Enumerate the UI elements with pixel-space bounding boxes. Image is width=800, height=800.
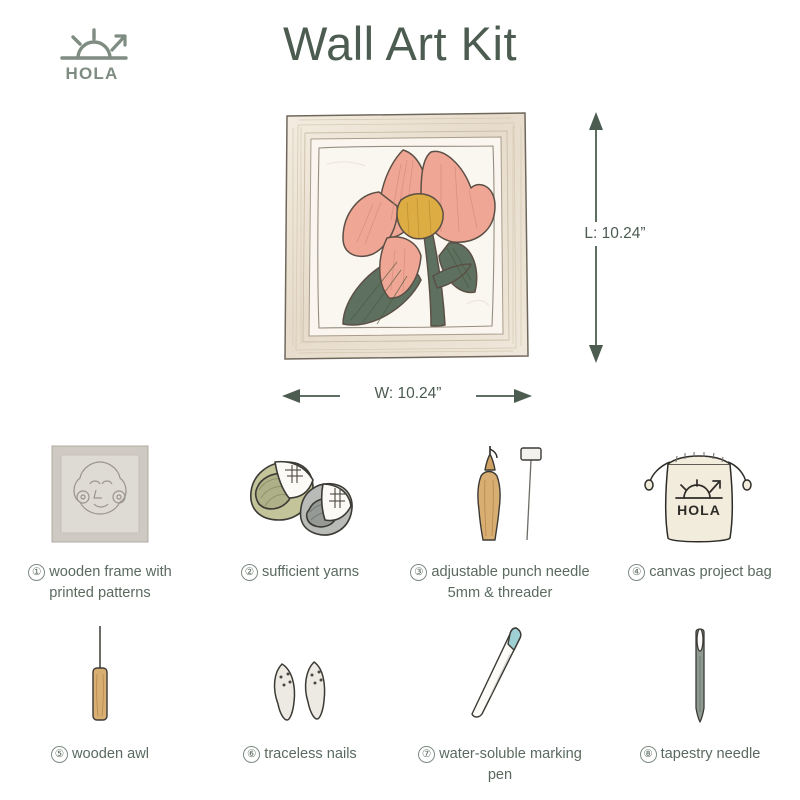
kit-item-label: traceless nails <box>264 746 356 762</box>
kit-item-label: canvas project bag <box>649 564 772 580</box>
length-dimension-label: L: 10.24” <box>560 222 670 246</box>
kit-item-number: ④ <box>628 564 645 581</box>
kit-item-label: sufficient yarns <box>262 564 359 580</box>
kit-item-caption: ⑧tapestry needle <box>608 744 792 765</box>
wooden-awl-icon <box>70 618 130 730</box>
kit-item-caption: ①wooden frame with printed patterns <box>8 562 192 604</box>
kit-item-canvas-bag[interactable]: HOLA ④canvas project bag <box>600 436 800 618</box>
wooden-frame-icon <box>46 436 154 548</box>
tapestry-needle-icon <box>670 618 730 730</box>
kit-item-number: ⑥ <box>243 746 260 763</box>
kit-item-caption: ⑤wooden awl <box>8 744 192 765</box>
page-header: HOLA Wall Art Kit <box>0 0 800 100</box>
kit-item-caption: ⑥traceless nails <box>208 744 392 765</box>
canvas-bag-icon: HOLA <box>640 436 760 548</box>
kit-item-label: wooden awl <box>72 746 149 762</box>
kit-item-wooden-awl[interactable]: ⑤wooden awl <box>0 618 200 800</box>
kit-item-number: ⑧ <box>640 746 657 763</box>
page-title: Wall Art Kit <box>0 16 800 71</box>
kit-contents-row-2: ⑤wooden awl <box>0 618 800 800</box>
width-dimension-label: W: 10.24” <box>340 385 476 403</box>
kit-contents-grid: ①wooden frame with printed patterns <box>0 436 800 800</box>
kit-item-traceless-nails[interactable]: ⑥traceless nails <box>200 618 400 800</box>
kit-item-label: wooden frame with printed patterns <box>49 564 172 601</box>
kit-item-tapestry-needle[interactable]: ⑧tapestry needle <box>600 618 800 800</box>
kit-item-label: water-soluble marking pen <box>439 746 582 783</box>
kit-item-number: ② <box>241 564 258 581</box>
bag-logo-text: HOLA <box>677 502 721 518</box>
kit-item-label: adjustable punch needle 5mm & threader <box>431 564 589 601</box>
kit-item-marking-pen[interactable]: ⑦water-soluble marking pen <box>400 618 600 800</box>
marking-pen-icon <box>460 618 540 730</box>
kit-item-punch-needle[interactable]: ③adjustable punch needle 5mm & threader <box>400 436 600 618</box>
kit-item-wooden-frame[interactable]: ①wooden frame with printed patterns <box>0 436 200 618</box>
kit-item-label: tapestry needle <box>661 746 761 762</box>
kit-item-yarns[interactable]: ②sufficient yarns <box>200 436 400 618</box>
kit-item-number: ⑦ <box>418 746 435 763</box>
kit-item-caption: ②sufficient yarns <box>208 562 392 583</box>
hero-section: L: 10.24” W: 10.24” <box>0 100 800 430</box>
kit-contents-row-1: ①wooden frame with printed patterns <box>0 436 800 618</box>
kit-item-caption: ③adjustable punch needle 5mm & threader <box>408 562 592 604</box>
kit-item-caption: ④canvas project bag <box>608 562 792 583</box>
punch-needle-icon <box>445 436 555 548</box>
kit-item-number: ⑤ <box>51 746 68 763</box>
traceless-nails-icon <box>260 618 340 730</box>
kit-item-caption: ⑦water-soluble marking pen <box>408 744 592 786</box>
yarn-skeins-icon <box>235 436 365 548</box>
kit-item-number: ① <box>28 564 45 581</box>
framed-artwork <box>281 108 531 363</box>
framed-flower-artwork-icon <box>281 108 531 363</box>
kit-item-number: ③ <box>410 564 427 581</box>
